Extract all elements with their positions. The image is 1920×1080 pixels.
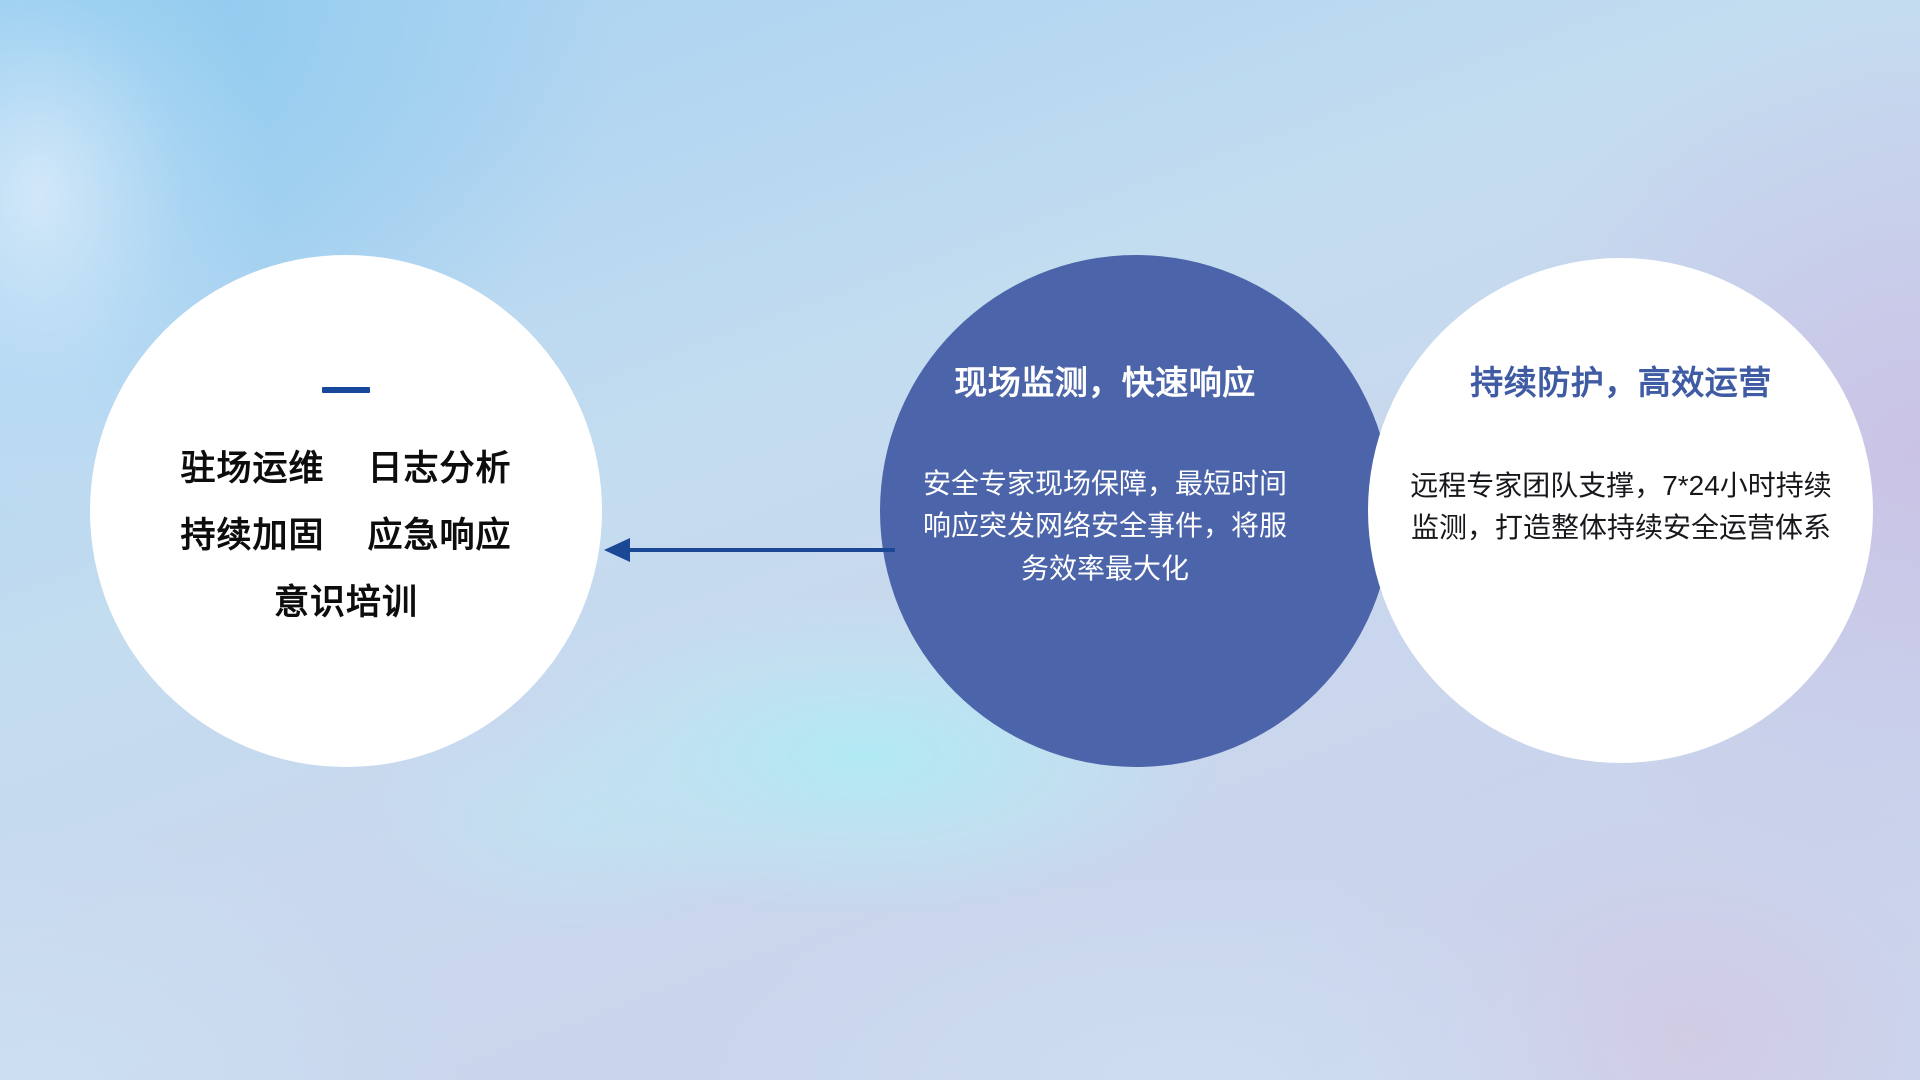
left-circle-line-3: 意识培训: [274, 585, 418, 620]
flow-arrow-left-icon: [600, 520, 900, 580]
left-circle-line-2: 持续加固 应急响应: [181, 518, 512, 553]
right-circle-title: 持续防护，高效运营: [1470, 363, 1772, 403]
middle-circle-body: 安全专家现场保障，最短时间响应突发网络安全事件，将服务效率最大化: [921, 463, 1289, 591]
left-circle-content: 驻场运维 日志分析 持续加固 应急响应 意识培训: [90, 255, 602, 767]
accent-divider-bar: [322, 387, 370, 393]
right-circle-body: 远程专家团队支撑，7*24小时持续监测，打造整体持续安全运营体系: [1406, 465, 1836, 550]
slide-canvas: 驻场运维 日志分析 持续加固 应急响应 意识培训 现场监测，快速响应 安全专家现…: [0, 0, 1920, 1080]
middle-circle-content: 现场监测，快速响应 安全专家现场保障，最短时间响应突发网络安全事件，将服务效率最…: [895, 255, 1315, 767]
right-circle-content: 持续防护，高效运营 远程专家团队支撑，7*24小时持续监测，打造整体持续安全运营…: [1390, 258, 1852, 763]
middle-circle-title: 现场监测，快速响应: [954, 363, 1256, 403]
left-circle-line-1: 驻场运维 日志分析: [181, 451, 512, 486]
